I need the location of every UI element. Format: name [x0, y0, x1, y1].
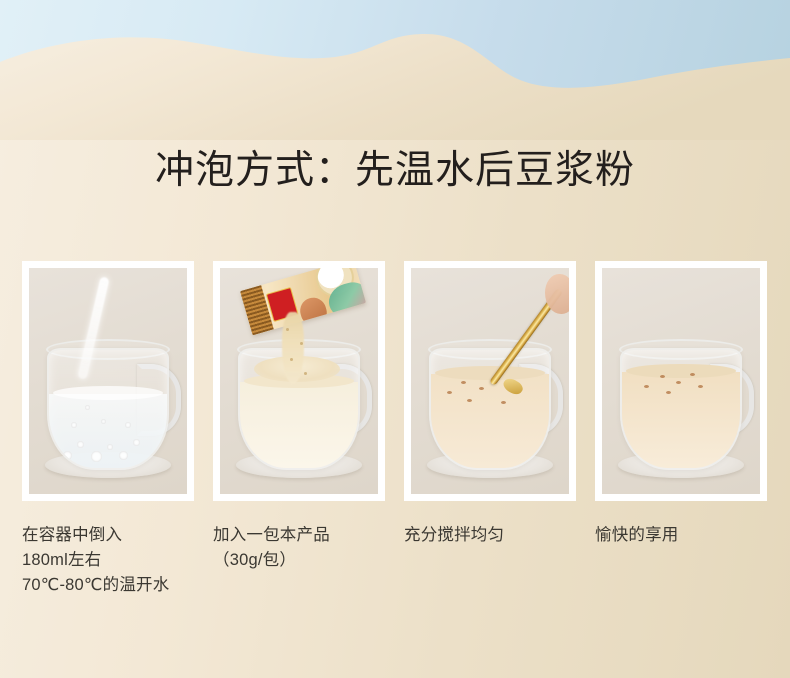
- glass-mug-icon: [429, 348, 551, 470]
- step-photo-stirring: [411, 268, 569, 494]
- photo-frame-4: [595, 261, 767, 501]
- water-bubbles-icon: [49, 350, 167, 468]
- red-date-specks-icon: [622, 350, 740, 468]
- red-date-specks-icon: [431, 350, 549, 468]
- steps-row: 在容器中倒入 180ml左右 70℃-80℃的温开水: [22, 261, 768, 598]
- photo-frame-2: [213, 261, 385, 501]
- step-item-1: 在容器中倒入 180ml左右 70℃-80℃的温开水: [22, 261, 194, 598]
- page-title: 冲泡方式：先温水后豆浆粉: [0, 146, 790, 196]
- photo-frame-3: [404, 261, 576, 501]
- glass-mug-icon: [620, 348, 742, 470]
- step-photo-finished-drink: [602, 268, 760, 494]
- step-item-4: 愉快的享用: [595, 261, 767, 548]
- step-caption-4: 愉快的享用: [595, 523, 767, 548]
- powder-grains-icon: [220, 268, 378, 494]
- step-item-3: 充分搅拌均匀: [404, 261, 576, 548]
- step-caption-3: 充分搅拌均匀: [404, 523, 576, 548]
- step-photo-adding-powder: [220, 268, 378, 494]
- header-wave-shape: [0, 0, 790, 140]
- photo-frame-1: [22, 261, 194, 501]
- step-item-2: 加入一包本产品 （30g/包）: [213, 261, 385, 573]
- step-caption-2: 加入一包本产品 （30g/包）: [213, 523, 385, 573]
- promo-page: 冲泡方式：先温水后豆浆粉: [0, 0, 790, 678]
- step-caption-1: 在容器中倒入 180ml左右 70℃-80℃的温开水: [22, 523, 194, 598]
- glass-mug-icon: [47, 348, 169, 470]
- step-photo-pouring-water: [29, 268, 187, 494]
